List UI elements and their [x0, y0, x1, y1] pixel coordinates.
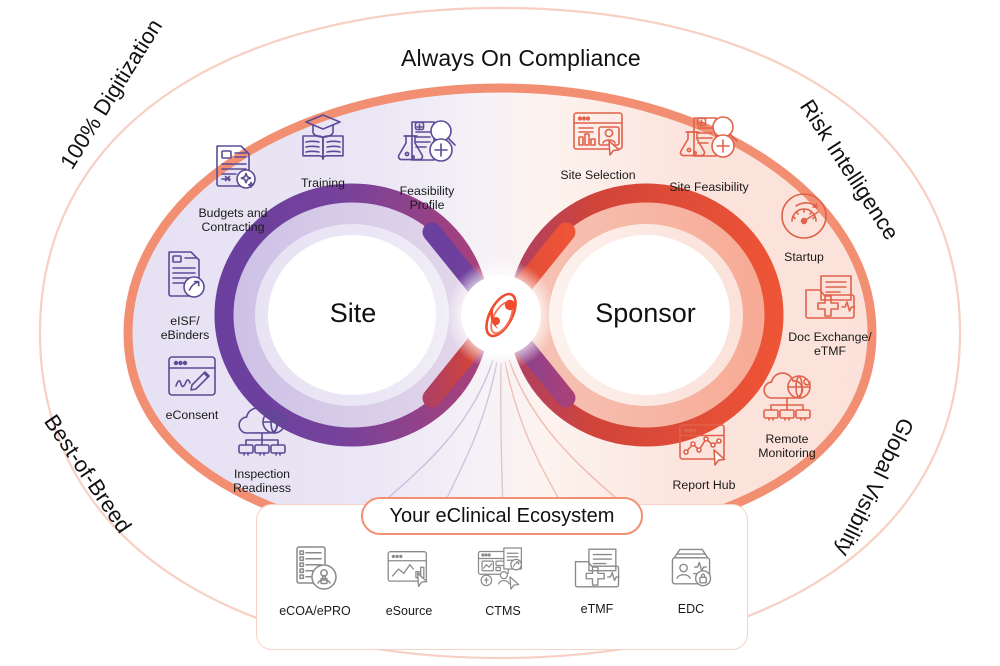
feature-training[interactable]: Training: [264, 108, 382, 190]
feature-label: Startup: [745, 250, 863, 264]
folder-medical-icon: [571, 580, 623, 597]
flask-magnifier-plus-icon: [368, 114, 486, 181]
feature-site-selection[interactable]: Site Selection: [539, 108, 657, 182]
ecosystem-item-label: EDC: [649, 602, 733, 616]
ecosystem-item-label: eTMF: [555, 602, 639, 616]
feature-startup[interactable]: Startup: [745, 190, 863, 264]
speedometer-icon: [745, 190, 863, 247]
feature-site-feasibility[interactable]: Site Feasibility: [650, 110, 768, 194]
feature-feasibility-profile[interactable]: FeasibilityProfile: [368, 114, 486, 212]
cloud-network-globe-icon: [203, 403, 321, 464]
feature-label: Report Hub: [645, 478, 763, 492]
checklist-person-lock-icon: [289, 582, 341, 599]
feature-label: Training: [264, 176, 382, 190]
ecosystem-item-etmf[interactable]: eTMF: [555, 543, 639, 616]
folder-medical-icon: [771, 272, 889, 327]
outer-label-always-on-compliance: Always On Compliance: [401, 45, 641, 72]
feature-label: InspectionReadiness: [203, 467, 321, 495]
chart-window-cursor-icon: [645, 420, 763, 475]
ecosystem-item-ecoa-epro[interactable]: eCOA/ePRO: [273, 543, 357, 618]
infographic-canvas: Always On Compliance 100% Digitization R…: [0, 0, 1000, 666]
feature-report-hub[interactable]: Report Hub: [645, 420, 763, 492]
records-person-lock-icon: [665, 580, 717, 597]
ecosystem-item-ctms[interactable]: CTMS: [461, 543, 545, 618]
ecosystem-item-edc[interactable]: EDC: [649, 543, 733, 616]
ecosystem-item-label: eSource: [367, 604, 451, 618]
hub-label-sponsor: Sponsor: [583, 298, 708, 329]
signature-pen-icon: [133, 352, 251, 405]
feature-label: Budgets andContracting: [174, 206, 292, 234]
center-logo-circle: [461, 275, 541, 355]
feature-label: Doc Exchange/eTMF: [771, 330, 889, 358]
feature-inspection-readiness[interactable]: InspectionReadiness: [203, 403, 321, 495]
dashboard-documents-person-icon: [475, 582, 531, 599]
feature-label: Site Selection: [539, 168, 657, 182]
ecosystem-item-esource[interactable]: eSource: [367, 543, 451, 618]
feature-eisf-ebinders[interactable]: eISF/eBinders: [126, 246, 244, 342]
ecosystem-title-pill: Your eClinical Ecosystem: [361, 497, 643, 535]
feature-label: FeasibilityProfile: [368, 184, 486, 212]
feature-label: eISF/eBinders: [126, 314, 244, 342]
flask-magnifier-plus-icon: [650, 110, 768, 177]
ecosystem-item-label: eCOA/ePRO: [273, 604, 357, 618]
hub-label-site: Site: [293, 298, 413, 329]
document-arrow-icon: [126, 246, 244, 311]
ecosystem-item-row: eCOA/ePRO eSource: [268, 543, 738, 618]
ecosystem-title: Your eClinical Ecosystem: [390, 505, 615, 528]
feature-doc-exchange-etmf[interactable]: Doc Exchange/eTMF: [771, 272, 889, 358]
chart-window-cursor-icon: [383, 582, 435, 599]
graduation-book-icon: [264, 108, 382, 173]
ecosystem-item-label: CTMS: [461, 604, 545, 618]
dashboard-person-cursor-icon: [539, 108, 657, 165]
